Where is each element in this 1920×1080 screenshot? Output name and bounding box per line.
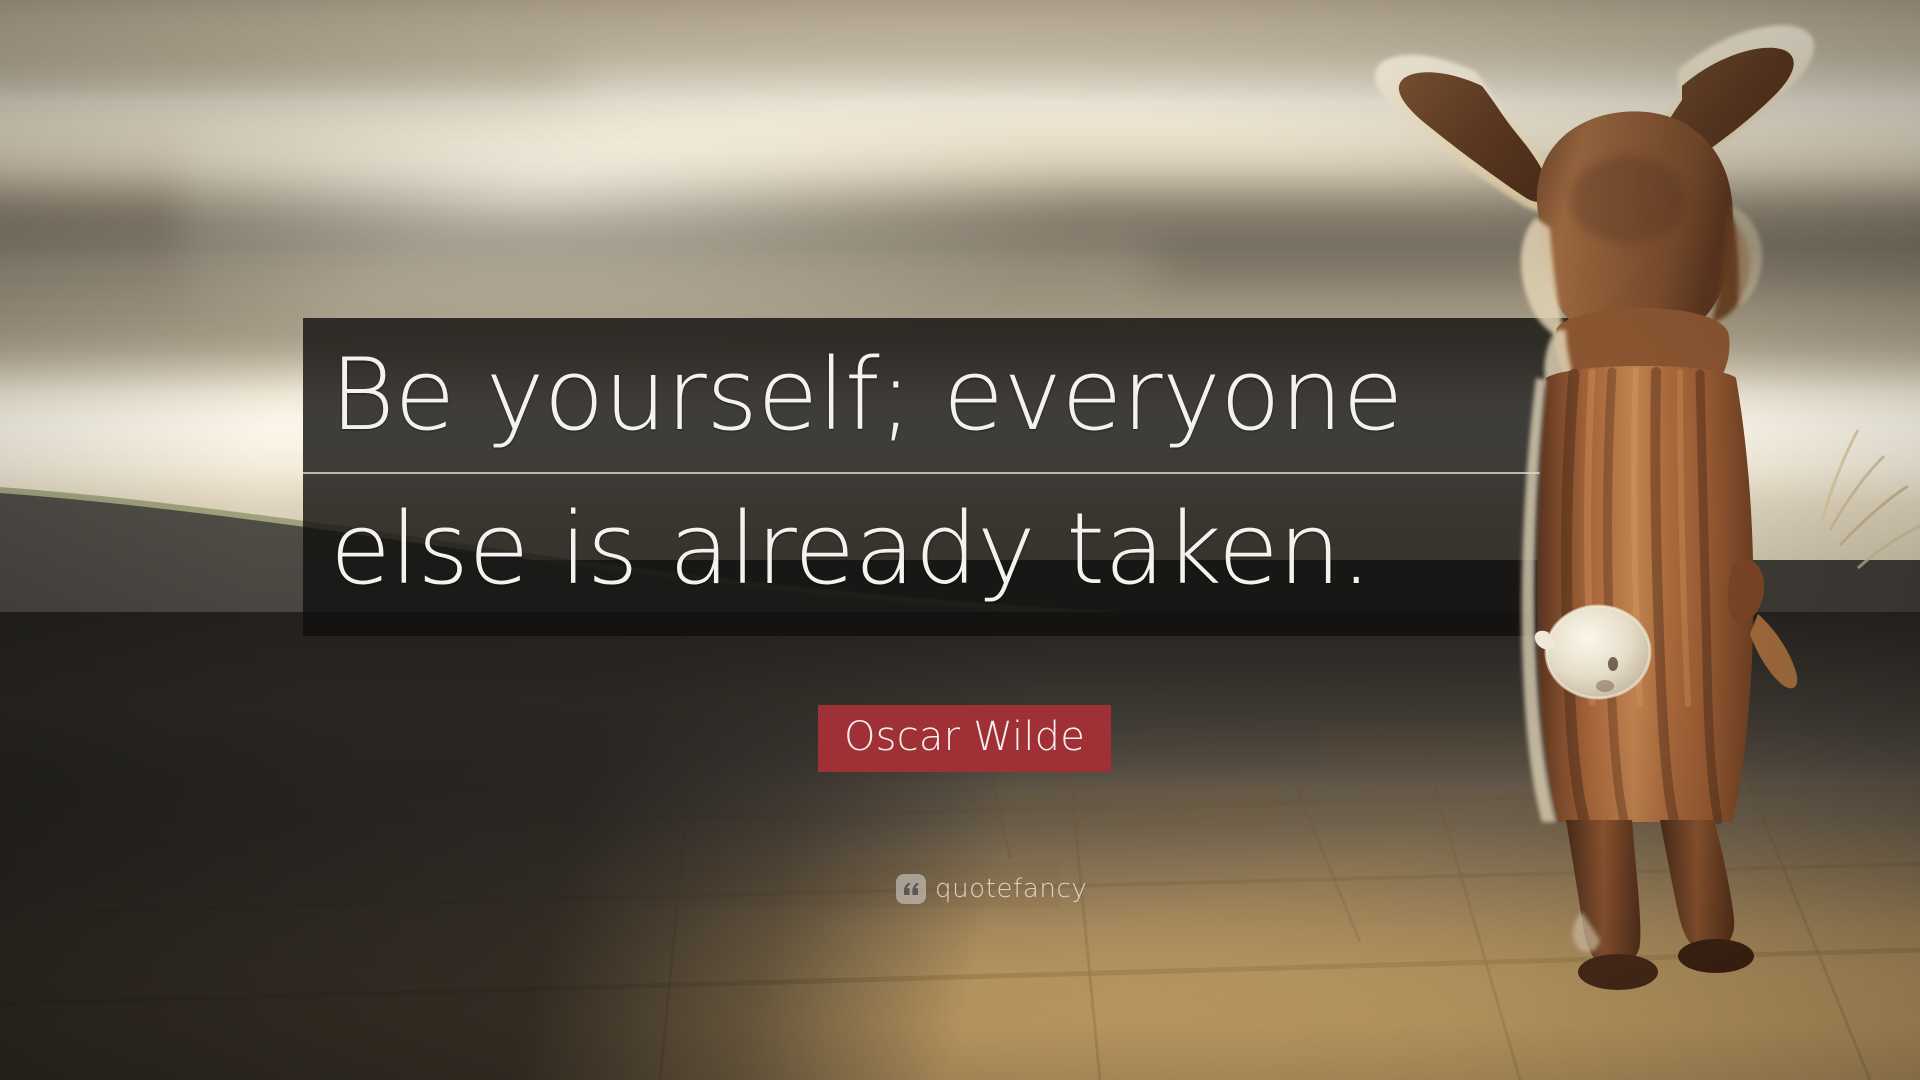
grass-tufts	[1822, 430, 1920, 568]
quote-poster: Be yourself; everyone else is already ta…	[0, 0, 1920, 1080]
rabbit-legs	[1566, 820, 1754, 990]
rabbit-left-ear	[1375, 55, 1557, 212]
rabbit-torso	[1522, 366, 1754, 822]
watermark-label: quotefancy	[935, 876, 1087, 902]
quote-line-2-text: else is already taken.	[330, 500, 1372, 599]
rabbit-costume-figure	[1360, 0, 1920, 1080]
author-name: Oscar Wilde	[844, 717, 1085, 757]
double-quote-icon	[896, 874, 926, 904]
rabbit-head	[1521, 111, 1762, 340]
quotefancy-watermark[interactable]: quotefancy	[896, 874, 1087, 904]
quote-line-1-text: Be yourself; everyone	[330, 346, 1403, 445]
author-badge: Oscar Wilde	[818, 705, 1111, 772]
